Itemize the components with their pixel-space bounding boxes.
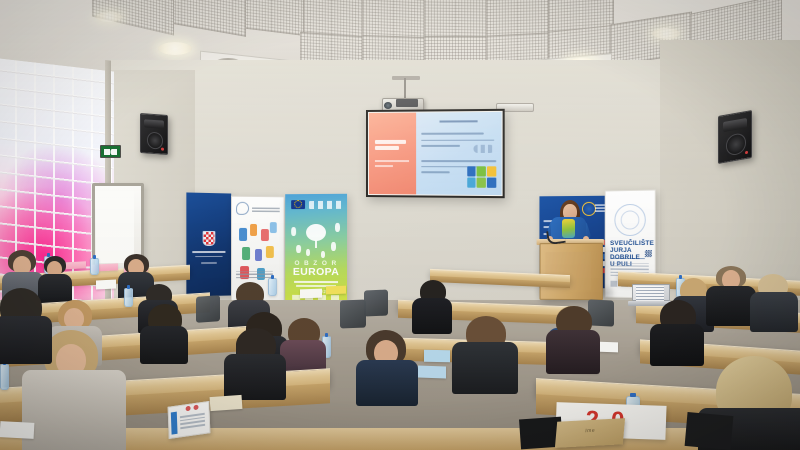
name-card: Ime [555, 418, 625, 448]
diagram-cell [477, 177, 486, 187]
chair [364, 290, 388, 317]
attendee-torso [356, 360, 418, 406]
croatian-coat-of-arms-icon [203, 231, 216, 246]
attendee-torso [0, 316, 52, 364]
croatian-ministry-banner [186, 192, 231, 296]
projection-screen [366, 109, 505, 198]
attendee-torso [22, 370, 126, 450]
slide-dotted-graphic [474, 145, 495, 152]
speaker-led [161, 147, 164, 150]
water-bottle [268, 278, 277, 296]
attendee-torso [650, 324, 704, 366]
slide-body-line [421, 172, 450, 174]
water-bottle [124, 288, 133, 307]
slide-body-line [421, 160, 496, 162]
figure-illustration [291, 227, 296, 236]
banner-partner-logos [309, 200, 344, 208]
illustration-figure [239, 228, 247, 241]
banner-logo-text [252, 206, 279, 212]
diagram-cell [487, 177, 496, 187]
speaker-led [745, 151, 748, 155]
paper-sheet [210, 395, 243, 411]
emergency-exit-sign [100, 145, 121, 158]
attendee-torso [706, 286, 756, 326]
slide-body-heading [440, 120, 478, 122]
speaker-horn [144, 119, 164, 129]
banner-text-line [192, 251, 226, 253]
banner-divider [610, 258, 644, 260]
pa-speaker-right [718, 110, 752, 164]
pula-line-1: SVEUČILIŠTE [610, 240, 654, 247]
lecture-hall-photo: O B Z O R EUROPA 2021.-2027. SVEUČILIŠTE… [0, 0, 800, 450]
banner-subtitle-line [294, 281, 339, 283]
banner-caption-text [236, 271, 272, 278]
slide-body-panel [416, 112, 502, 195]
water-bottle [0, 364, 9, 390]
attendee-torso [452, 342, 518, 394]
slide-body-line [421, 145, 460, 147]
pa-speaker-left [140, 113, 168, 155]
slide-content [369, 112, 502, 195]
projector-mount [392, 76, 420, 80]
speaker-horn [723, 117, 747, 131]
paper-sheet [300, 289, 322, 299]
speaker-woofer [726, 132, 746, 156]
figure-illustration [335, 223, 340, 232]
highlighted-paper [326, 286, 346, 295]
diagram-cell [477, 166, 486, 176]
slide-title-panel [369, 113, 416, 195]
paper-sheet [0, 421, 34, 439]
slide-body-line [421, 133, 484, 135]
projector-body-dark [396, 99, 418, 107]
illustration-figure [270, 222, 277, 233]
slide-title-line-1 [375, 140, 407, 144]
illustration-figure [242, 247, 250, 260]
banner-text-line [195, 256, 222, 258]
slide-block-diagram [467, 166, 496, 188]
blue-paper [418, 366, 446, 379]
whiteboard-surface [96, 189, 134, 263]
illustration-figure [250, 224, 257, 236]
dark-folder [685, 412, 734, 450]
projector-lens [384, 102, 392, 109]
attendee-torso [140, 326, 188, 364]
conference-flyer [168, 401, 211, 439]
banner-text-line [201, 262, 217, 264]
ceiling-light [96, 12, 122, 22]
attendee-torso [750, 292, 798, 332]
projector-pole [404, 78, 406, 100]
diagram-cell [467, 166, 476, 176]
name-card-text: Ime [585, 428, 595, 435]
qr-code-icon [644, 250, 651, 257]
speech-bubble-icon [236, 202, 249, 215]
figure-illustration [306, 249, 310, 256]
banner-title-large: EUROPA [285, 267, 347, 278]
tree-illustration-icon [306, 224, 326, 241]
blue-paper [424, 350, 450, 362]
attendee-laptop[interactable] [632, 284, 668, 306]
chair [340, 300, 366, 329]
attendee-torso [412, 298, 452, 334]
flyer-blue-stripe [171, 411, 178, 434]
figure-illustration [296, 245, 301, 253]
flyer-red-dot [185, 406, 190, 412]
paper-sheet [96, 279, 116, 289]
attendee-torso [38, 274, 72, 304]
slide-body-line [421, 139, 495, 141]
illustration-figure [266, 246, 274, 258]
figure-illustration [331, 242, 336, 251]
slide-subtitle-line-1 [375, 160, 410, 162]
slide-title-line-2 [375, 146, 399, 150]
slide-subtitle-line-2 [375, 165, 394, 167]
flyer-red-dot [193, 405, 198, 411]
illustration-figure [255, 249, 262, 261]
illustration-figure [261, 229, 269, 241]
university-emblem-icon [614, 203, 645, 235]
ceiling-light [158, 42, 192, 55]
eu-flag-icon [291, 200, 305, 209]
water-bottle [90, 258, 99, 275]
tree-trunk [315, 240, 317, 248]
chair [196, 295, 220, 323]
diagram-cell [467, 177, 476, 187]
attendee-torso [546, 330, 600, 374]
banner-logo-row [236, 203, 279, 215]
attendee-torso [224, 354, 286, 400]
ceiling-light [652, 28, 680, 39]
running-man-icon [104, 149, 117, 155]
university-seal-icon [582, 202, 596, 216]
figure-illustration [321, 251, 325, 258]
diagram-cell [487, 166, 496, 176]
